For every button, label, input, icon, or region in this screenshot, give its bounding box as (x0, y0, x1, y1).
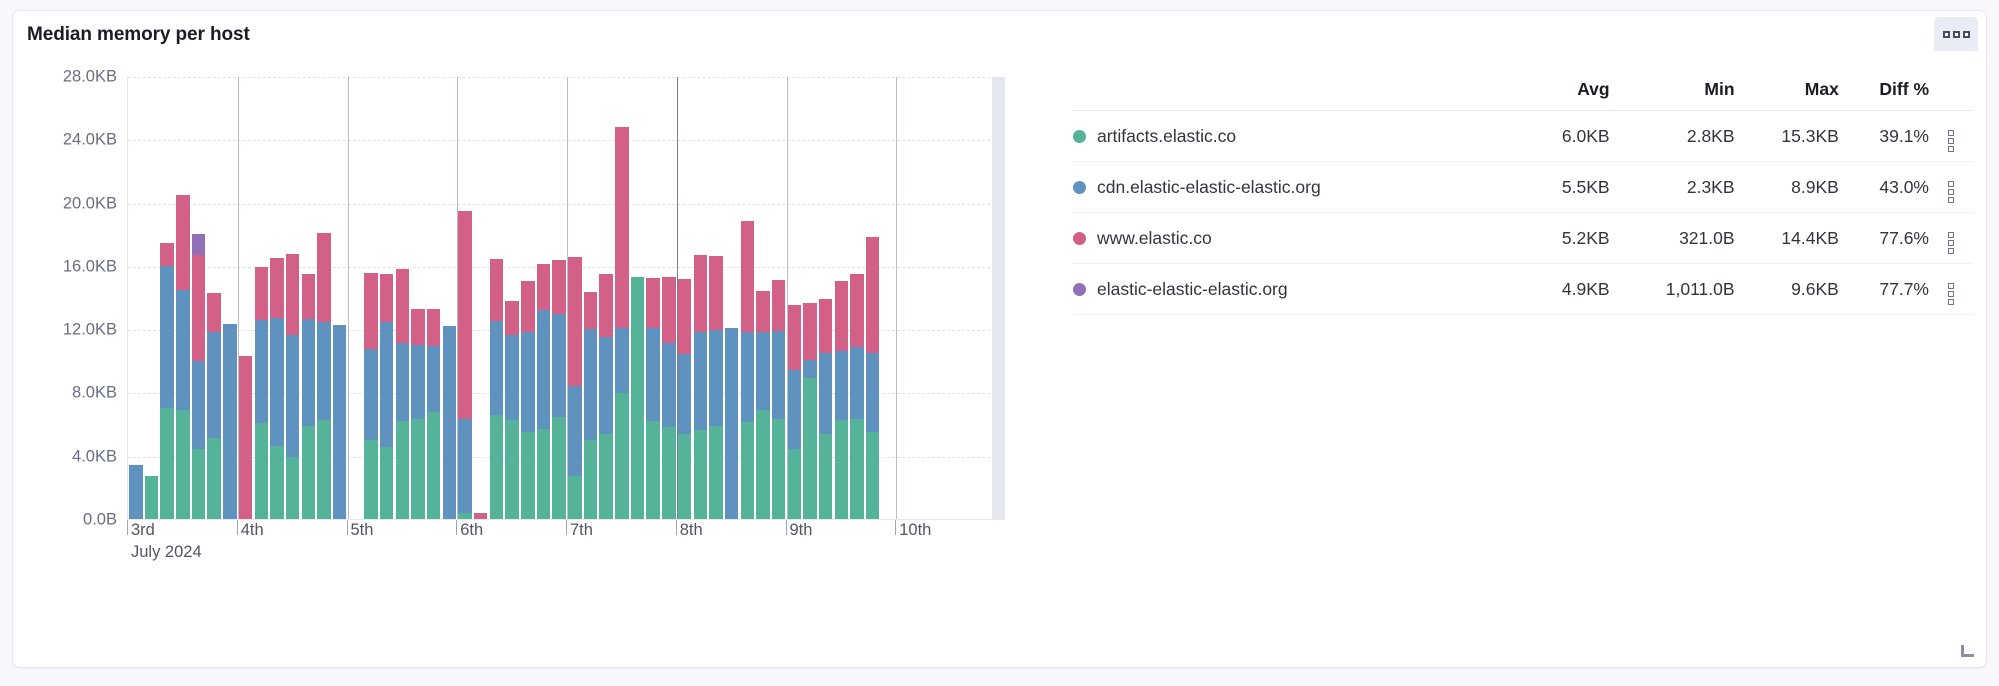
bar-segment (192, 361, 205, 450)
tick-line (786, 520, 787, 535)
bar-segment (803, 303, 816, 360)
bar[interactable] (223, 324, 236, 519)
y-axis-tick-label: 8.0KB (72, 384, 117, 403)
bar-segment (615, 328, 628, 394)
menu-square-1 (1943, 31, 1950, 38)
bar-segment (599, 274, 612, 337)
bar[interactable] (207, 293, 220, 519)
bar-segment (537, 264, 550, 311)
legend-series-name-cell[interactable]: artifacts.elastic.co (1073, 111, 1523, 162)
bar[interactable] (788, 305, 801, 519)
bar-segment (709, 330, 722, 426)
bar-segment (411, 419, 424, 519)
chart-container: 0.0B4.0KB8.0KB12.0KB16.0KB20.0KB24.0KB28… (27, 63, 1057, 653)
bar-segment (537, 429, 550, 519)
bar-segment (662, 277, 675, 343)
bar[interactable] (552, 260, 565, 519)
bar-segment (458, 419, 471, 513)
bar-segment (772, 419, 785, 519)
bar-segment (505, 301, 518, 336)
bar-segment (160, 243, 173, 266)
legend-diff-cell: 77.7% (1839, 264, 1929, 315)
bar[interactable] (678, 279, 691, 519)
bar[interactable] (835, 281, 848, 519)
bar-segment (835, 420, 848, 519)
bar-segment (584, 292, 597, 329)
bar-segment (709, 426, 722, 519)
drag-handle-icon[interactable] (1948, 232, 1954, 254)
grip-dot (1948, 138, 1954, 144)
bar[interactable] (160, 243, 173, 519)
bar-segment (255, 320, 268, 423)
bar-segment (646, 328, 659, 421)
bar-segment (286, 254, 299, 335)
bar-segment (505, 335, 518, 420)
bar-segment (694, 332, 707, 430)
bar[interactable] (505, 301, 518, 519)
legend-avg-cell: 6.0KB (1523, 111, 1610, 162)
legend-drag-handle-cell[interactable] (1929, 264, 1973, 315)
bar-segment (255, 267, 268, 320)
bar-segment (678, 434, 691, 519)
bar[interactable] (176, 195, 189, 519)
bar-segment (474, 513, 487, 519)
bar[interactable] (866, 237, 879, 519)
bar-segment (803, 378, 816, 519)
bar[interactable] (364, 273, 377, 519)
bar-segment (490, 321, 503, 415)
bar-segment (160, 266, 173, 408)
bar[interactable] (615, 127, 628, 519)
bar-segment (568, 476, 581, 519)
bar[interactable] (631, 277, 644, 519)
bar-segment (176, 410, 189, 519)
legend-max-cell: 14.4KB (1735, 213, 1839, 264)
grip-dot (1948, 197, 1954, 203)
bar[interactable] (302, 274, 315, 519)
bar-segment (129, 465, 142, 519)
legend-drag-handle-cell[interactable] (1929, 111, 1973, 162)
bar-segment (427, 346, 440, 412)
bar-segment (678, 354, 691, 434)
bar-segment (302, 426, 315, 519)
legend-header-diff[interactable]: Diff % (1839, 73, 1929, 111)
grip-dot (1948, 189, 1954, 195)
bar[interactable] (380, 274, 393, 519)
bar-segment (458, 211, 471, 420)
bar-segment (788, 449, 801, 519)
bar-segment (521, 281, 534, 332)
bar-segment (145, 476, 158, 520)
series-color-swatch (1073, 130, 1086, 143)
bar[interactable] (803, 303, 816, 519)
bar[interactable] (709, 256, 722, 519)
y-axis-tick-label: 20.0KB (63, 194, 117, 213)
y-axis-tick-label: 28.0KB (63, 68, 117, 87)
bar-segment (709, 256, 722, 330)
bar-series-group (128, 77, 1005, 519)
legend-max-cell: 15.3KB (1735, 111, 1839, 162)
bar[interactable] (490, 259, 503, 519)
menu-square-2 (1953, 31, 1960, 38)
bar-segment (850, 274, 863, 347)
legend-row[interactable]: elastic-elastic-elastic.org4.9KB1,011.0B… (1073, 264, 1973, 315)
drag-handle-icon[interactable] (1948, 130, 1954, 152)
legend-header-avg[interactable]: Avg (1523, 73, 1610, 111)
panel-header: Median memory per host (13, 11, 1986, 63)
bar[interactable] (396, 269, 409, 519)
bar-segment (819, 353, 832, 434)
bar[interactable] (192, 234, 205, 519)
bar[interactable] (772, 280, 785, 519)
grip-dot (1948, 232, 1954, 238)
bar-segment (756, 410, 769, 519)
tick-line (676, 520, 677, 535)
bar-segment (505, 420, 518, 519)
bar[interactable] (333, 325, 346, 519)
y-axis: 0.0B4.0KB8.0KB12.0KB16.0KB20.0KB24.0KB28… (27, 63, 125, 518)
bar[interactable] (568, 301, 581, 519)
series-label: cdn.elastic-elastic-elastic.org (1097, 177, 1321, 197)
legend-header-max[interactable]: Max (1735, 73, 1839, 111)
x-axis-tick-label: 7th (570, 521, 593, 540)
grip-dot (1948, 240, 1954, 246)
legend-header-min[interactable]: Min (1610, 73, 1735, 111)
bar-segment (364, 349, 377, 440)
bar-segment (192, 234, 205, 255)
bar-segment (615, 127, 628, 328)
bar-segment (803, 360, 816, 378)
bar-segment (521, 332, 534, 432)
bar-segment (584, 329, 597, 440)
bar[interactable] (521, 281, 534, 519)
bar-segment (270, 318, 283, 446)
bar[interactable] (741, 221, 754, 519)
bar[interactable] (443, 326, 456, 519)
page-title: Median memory per host (27, 24, 250, 46)
legend-min-cell: 1,011.0B (1610, 264, 1735, 315)
legend-min-cell: 321.0B (1610, 213, 1735, 264)
bar[interactable] (725, 328, 738, 519)
drag-handle-icon[interactable] (1948, 283, 1954, 305)
tick-line (237, 520, 238, 535)
y-axis-tick-label: 24.0KB (63, 131, 117, 150)
bar-segment (646, 421, 659, 519)
legend-table: Avg Min Max Diff % artifacts.elastic.co6… (1073, 73, 1973, 315)
x-axis-tick-label: 5th (351, 521, 374, 540)
bar-segment (537, 310, 550, 429)
bar-segment (239, 356, 252, 519)
legend-diff-cell: 77.6% (1839, 213, 1929, 264)
bar-segment (850, 419, 863, 519)
legend-min-cell: 2.8KB (1610, 111, 1735, 162)
menu-square-3 (1963, 31, 1970, 38)
bar-segment (364, 440, 377, 519)
bar[interactable] (239, 356, 252, 519)
bar-segment (364, 273, 377, 349)
bar-segment (458, 513, 471, 519)
bar-segment (850, 347, 863, 419)
bar-segment (835, 281, 848, 351)
grip-dot (1948, 283, 1954, 289)
x-axis-tick-label: 4th (241, 521, 264, 540)
tick-line (895, 520, 896, 535)
drag-handle-icon[interactable] (1948, 181, 1954, 203)
legend-drag-handle-cell[interactable] (1929, 162, 1973, 213)
bar-segment (380, 447, 393, 519)
series-label: www.elastic.co (1097, 228, 1212, 248)
grid-menu-icon[interactable] (1934, 17, 1978, 51)
bar[interactable] (129, 465, 142, 519)
bar-segment (866, 432, 879, 519)
y-axis-tick-label: 0.0B (83, 511, 117, 530)
bar-segment (411, 309, 424, 345)
bar-segment (741, 221, 754, 332)
grip-dot (1948, 291, 1954, 297)
y-axis-tick-label: 16.0KB (63, 257, 117, 276)
bar-segment (756, 332, 769, 410)
dashboard-panel: Median memory per host 0.0B4.0KB8.0KB12.… (12, 10, 1987, 668)
bar-segment (396, 343, 409, 421)
grip-dot (1948, 248, 1954, 254)
legend-series-name-cell[interactable]: www.elastic.co (1073, 213, 1523, 264)
legend-series-name-cell[interactable]: cdn.elastic-elastic-elastic.org (1073, 162, 1523, 213)
bar-segment (302, 274, 315, 319)
bar-segment (756, 291, 769, 332)
legend-drag-handle-cell[interactable] (1929, 213, 1973, 264)
bar-segment (725, 328, 738, 519)
legend-diff-cell: 39.1% (1839, 111, 1929, 162)
bar-segment (207, 438, 220, 519)
bar[interactable] (694, 255, 707, 519)
bar-segment (396, 421, 409, 519)
grip-dot (1948, 181, 1954, 187)
legend-row[interactable]: artifacts.elastic.co6.0KB2.8KB15.3KB39.1… (1073, 111, 1973, 162)
bar-segment (694, 430, 707, 519)
bar[interactable] (756, 291, 769, 519)
resize-corner-icon[interactable] (1962, 646, 1976, 660)
bar-segment (631, 277, 644, 519)
bar[interactable] (427, 309, 440, 519)
legend-header-row: Avg Min Max Diff % (1073, 73, 1973, 111)
bar-segment (192, 449, 205, 519)
legend-avg-cell: 4.9KB (1523, 264, 1610, 315)
series-color-swatch (1073, 232, 1086, 245)
legend-row[interactable]: cdn.elastic-elastic-elastic.org5.5KB2.3K… (1073, 162, 1973, 213)
tick-line (566, 520, 567, 535)
bar-segment (772, 331, 785, 420)
legend-avg-cell: 5.2KB (1523, 213, 1610, 264)
x-axis-tick-label: 8th (680, 521, 703, 540)
bar-segment (286, 457, 299, 519)
bar-segment (443, 326, 456, 519)
bar[interactable] (255, 267, 268, 519)
bar-segment (694, 255, 707, 332)
bar[interactable] (317, 233, 330, 519)
bar[interactable] (850, 274, 863, 519)
grip-dot (1948, 146, 1954, 152)
tick-line (456, 520, 457, 535)
series-label: elastic-elastic-elastic.org (1097, 279, 1288, 299)
bar-segment (427, 412, 440, 519)
legend-avg-cell: 5.5KB (1523, 162, 1610, 213)
bar-segment (207, 293, 220, 333)
x-axis-sublabel: July 2024 (131, 543, 202, 562)
legend-max-cell: 9.6KB (1735, 264, 1839, 315)
bar-segment (568, 301, 581, 386)
bar-segment (317, 233, 330, 322)
bar-segment (662, 343, 675, 428)
x-axis-tick-label: 9th (790, 521, 813, 540)
bar-segment (317, 420, 330, 519)
bar-segment (646, 278, 659, 329)
grip-dot (1948, 299, 1954, 305)
bar[interactable] (458, 211, 471, 519)
bar-segment (741, 422, 754, 519)
legend-min-cell: 2.3KB (1610, 162, 1735, 213)
legend-max-cell: 8.9KB (1735, 162, 1839, 213)
bar[interactable] (819, 299, 832, 519)
x-axis: 3rdJuly 20244th5th6th7th8th9th10th (127, 520, 1005, 580)
bar-segment (584, 440, 597, 519)
bar-segment (286, 335, 299, 458)
legend-series-name-cell[interactable]: elastic-elastic-elastic.org (1073, 264, 1523, 315)
plot-area[interactable] (127, 77, 1005, 520)
grip-dot (1948, 130, 1954, 136)
series-color-swatch (1073, 181, 1086, 194)
bar-segment (741, 332, 754, 422)
bar-segment (772, 280, 785, 331)
bar-segment (788, 305, 801, 371)
bar-segment (270, 258, 283, 318)
bar[interactable] (584, 292, 597, 519)
bar-segment (380, 274, 393, 322)
bar-segment (819, 299, 832, 353)
bar-segment (615, 393, 628, 519)
x-axis-tick-label: 10th (899, 521, 931, 540)
bar[interactable] (537, 264, 550, 520)
bar-segment (568, 386, 581, 476)
bar-segment (176, 290, 189, 410)
bar-segment (835, 351, 848, 420)
bar[interactable] (145, 476, 158, 520)
bar[interactable] (599, 274, 612, 519)
bar-segment (160, 408, 173, 519)
bar-segment (411, 345, 424, 419)
y-axis-tick-label: 12.0KB (63, 321, 117, 340)
legend-row[interactable]: www.elastic.co5.2KB321.0B14.4KB77.6% (1073, 213, 1973, 264)
bar-segment (270, 446, 283, 519)
bar-segment (866, 353, 879, 432)
bar-segment (678, 279, 691, 353)
bar-segment (380, 322, 393, 447)
bar-segment (255, 423, 268, 519)
series-label: artifacts.elastic.co (1097, 126, 1236, 146)
bar[interactable] (270, 258, 283, 519)
bar[interactable] (662, 277, 675, 519)
bar-segment (427, 309, 440, 346)
legend-header-grip (1929, 73, 1973, 111)
bar-segment (176, 195, 189, 290)
bar-segment (207, 332, 220, 437)
bar-segment (192, 255, 205, 361)
bar-segment (490, 415, 503, 519)
bar[interactable] (474, 513, 487, 519)
bar-segment (552, 314, 565, 417)
bar-segment (662, 427, 675, 519)
bar-segment (866, 237, 879, 353)
bar-segment (490, 259, 503, 321)
x-axis-tick-label: 3rd (131, 521, 155, 540)
x-axis-tick-label: 6th (460, 521, 483, 540)
bar-segment (788, 370, 801, 449)
bar-segment (599, 434, 612, 519)
bar-segment (819, 434, 832, 519)
bar[interactable] (646, 278, 659, 519)
bar-segment (552, 260, 565, 314)
bar-segment (552, 417, 565, 519)
series-color-swatch (1073, 283, 1086, 296)
y-axis-tick-label: 4.0KB (72, 447, 117, 466)
legend-header-name[interactable] (1073, 73, 1523, 111)
tick-line (127, 520, 128, 535)
bar-segment (599, 337, 612, 434)
bar-segment (223, 324, 236, 519)
bar-segment (302, 319, 315, 426)
tick-line (347, 520, 348, 535)
legend-diff-cell: 43.0% (1839, 162, 1929, 213)
bar[interactable] (411, 309, 424, 519)
bar-segment (317, 322, 330, 420)
bar-segment (333, 325, 346, 519)
bar-segment (396, 269, 409, 343)
bar[interactable] (286, 254, 299, 519)
bar-segment (521, 432, 534, 519)
